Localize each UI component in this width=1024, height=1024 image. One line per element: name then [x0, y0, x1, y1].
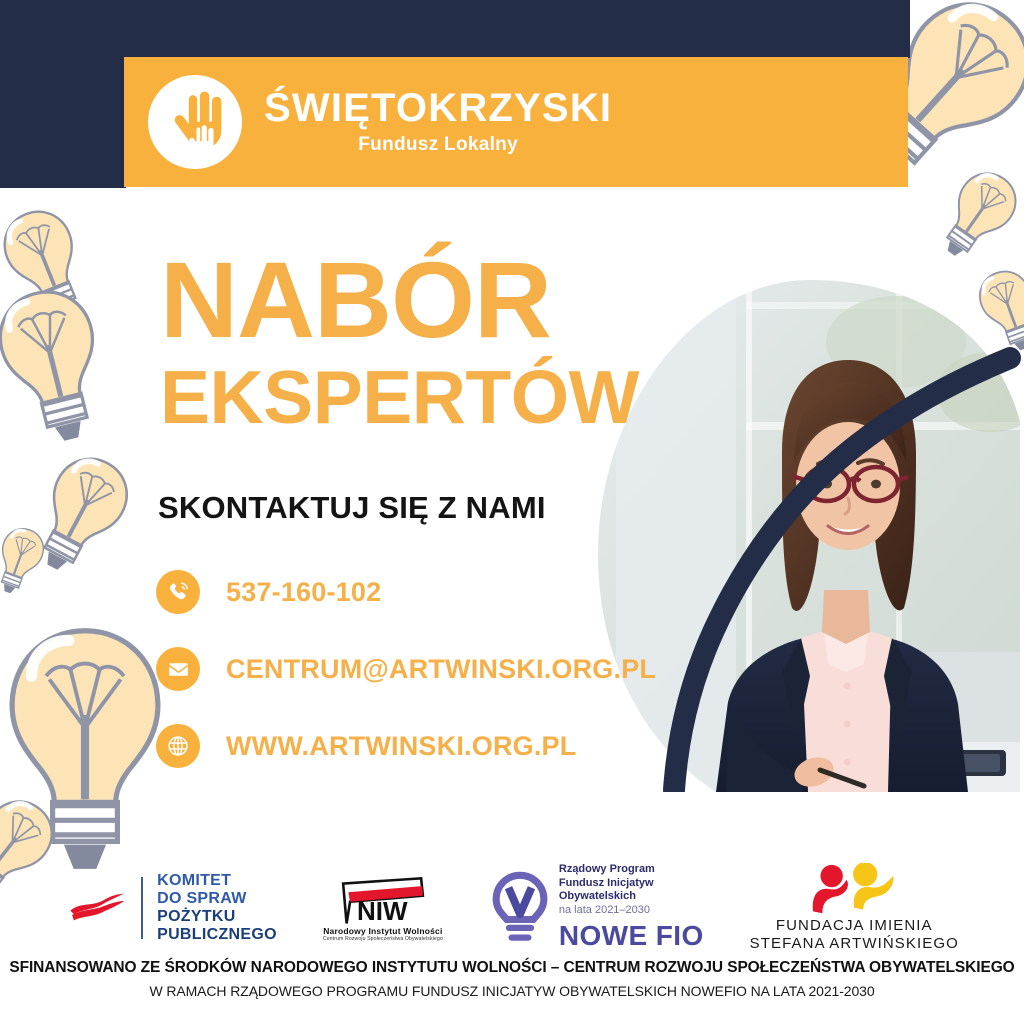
kdsp-line-3: POŻYTKU: [157, 908, 277, 926]
fio-line-3: Obywatelskich: [559, 890, 704, 903]
partner-logo-strip: KOMITET DO SPRAW POŻYTKU PUBLICZNEGO NIW…: [0, 862, 1024, 954]
globe-icon: [156, 724, 200, 768]
contact-email-value: CENTRUM@ARTWINSKI.ORG.PL: [226, 654, 656, 685]
navy-corner-block: [0, 0, 126, 188]
purple-lightbulb-icon: [489, 870, 551, 946]
page-title: NABÓR EKSPERTÓW: [160, 246, 639, 437]
fundacja-line-2: STEFANA ARTWIŃSKIEGO: [750, 935, 959, 953]
kdsp-line-1: KOMITET: [157, 872, 277, 890]
navy-top-bar: [0, 0, 910, 58]
niw-subtitle: Centrum Rozwoju Społeczeństwa Obywatelsk…: [323, 937, 443, 943]
logo-niw: NIW Narodowy Instytut Wolności Centrum R…: [323, 873, 443, 943]
contact-list: 537-160-102 CENTRUM@ARTWINSKI.ORG.PL WWW…: [156, 570, 656, 768]
brand-subtitle: Fundusz Lokalny: [358, 134, 518, 156]
hand-in-hand-logo-icon: [148, 75, 242, 169]
fio-brand: NOWE FIO: [559, 919, 704, 953]
phone-icon: [156, 570, 200, 614]
logo-komitet-do-spraw-pozytku-publicznego: KOMITET DO SPRAW POŻYTKU PUBLICZNEGO: [65, 872, 277, 944]
contact-row-phone[interactable]: 537-160-102: [156, 570, 656, 614]
envelope-icon: [156, 647, 200, 691]
hero-photo: [596, 272, 1024, 792]
niw-acronym: NIW: [357, 896, 408, 926]
contact-website-value: WWW.ARTWINSKI.ORG.PL: [226, 731, 576, 762]
contact-heading: SKONTAKTUJ SIĘ Z NAMI: [158, 490, 546, 526]
logo-fundacja-artwinskiego: FUNDACJA IMIENIA STEFANA ARTWIŃSKIEGO: [750, 863, 959, 953]
contact-row-email[interactable]: CENTRUM@ARTWINSKI.ORG.PL: [156, 647, 656, 691]
logo-nowe-fio: Rządowy Program Fundusz Inicjatyw Obywat…: [489, 863, 704, 953]
brand-header-banner: ŚWIĘTOKRZYSKI Fundusz Lokalny: [124, 57, 908, 187]
brand-title: ŚWIĘTOKRZYSKI: [264, 88, 612, 129]
polish-flag-emblem-icon: [65, 887, 127, 929]
poster-canvas: ŚWIĘTOKRZYSKI Fundusz Lokalny: [0, 0, 1024, 1024]
fio-line-4: na lata 2021–2030: [559, 904, 704, 917]
contact-phone-value: 537-160-102: [226, 577, 381, 608]
kdsp-line-4: PUBLICZNEGO: [157, 926, 277, 944]
kdsp-line-2: DO SPRAW: [157, 890, 277, 908]
funding-note-line-2: W RAMACH RZĄDOWEGO PROGRAMU FUNDUSZ INIC…: [0, 982, 1024, 1002]
title-line-1: NABÓR: [160, 246, 639, 354]
logo-divider: [141, 877, 143, 939]
funding-note: SFINANSOWANO ZE ŚRODKÓW NARODOWEGO INSTY…: [0, 958, 1024, 1002]
niw-flag-icon: NIW: [331, 873, 435, 927]
title-line-2: EKSPERTÓW: [160, 358, 639, 437]
fundacja-line-1: FUNDACJA IMIENIA: [776, 917, 933, 935]
fio-line-1: Rządowy Program: [559, 863, 704, 876]
two-figures-icon: [798, 863, 910, 917]
fio-line-2: Fundusz Inicjatyw: [559, 877, 704, 890]
funding-note-line-1: SFINANSOWANO ZE ŚRODKÓW NARODOWEGO INSTY…: [0, 958, 1024, 979]
contact-row-website[interactable]: WWW.ARTWINSKI.ORG.PL: [156, 724, 656, 768]
